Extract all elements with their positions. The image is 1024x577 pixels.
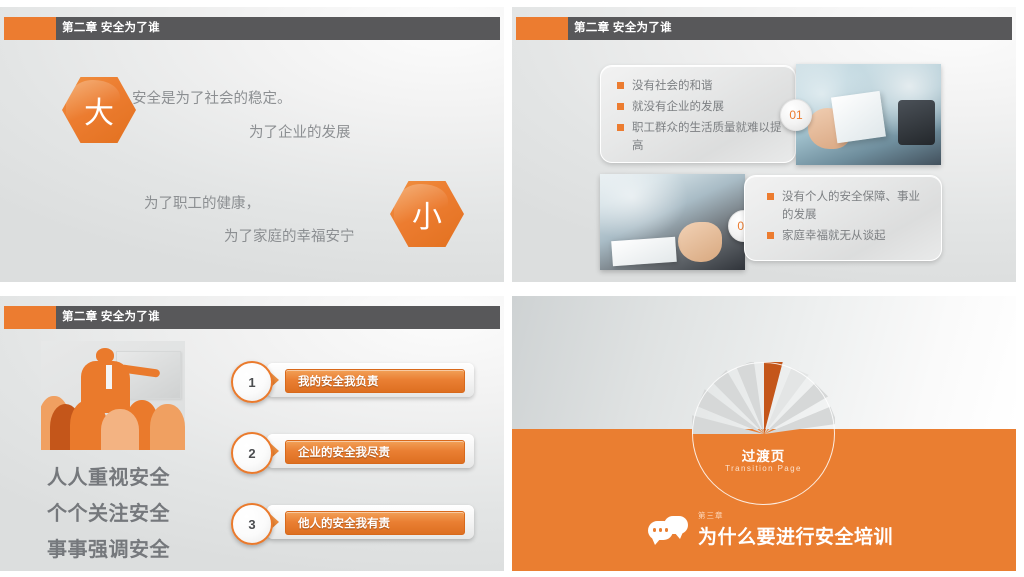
speech-bubble-front	[648, 521, 673, 540]
callout-box-1: 没有社会的和谐 就没有企业的发展 职工群众的生活质量就难以提高	[600, 65, 796, 163]
pie-outer-ring	[692, 362, 835, 505]
slide-4: 过渡页 Transition Page 第三章 为什么要进行安全培训	[512, 296, 1016, 571]
slide-2: 第二章 安全为了谁 没有社会的和谐 就没有企业的发展 职工群众的生活质量就难以提…	[512, 7, 1016, 282]
title-accent-block	[4, 306, 56, 329]
bullet-list-1: 没有社会的和谐 就没有企业的发展 职工群众的生活质量就难以提高	[617, 77, 785, 158]
photo-hand	[808, 108, 852, 148]
slide-1-title-bar: 第二章 安全为了谁	[4, 17, 500, 40]
list-item: 就没有企业的发展	[617, 98, 785, 116]
bullet-square-icon	[617, 103, 624, 110]
list-item: 家庭幸福就无从谈起	[767, 227, 931, 245]
transition-label-cn: 过渡页	[692, 445, 835, 465]
slide-2-title-bar: 第二章 安全为了谁	[516, 17, 1012, 40]
step-inner-bar: 企业的安全我尽责	[285, 440, 465, 464]
bullet-square-icon	[767, 193, 774, 200]
photo-image	[600, 174, 745, 270]
title-accent-block	[4, 17, 56, 40]
bullet-square-icon	[617, 124, 624, 131]
audience-silhouette	[150, 404, 185, 450]
photo-image	[796, 64, 941, 165]
step-label: 我的安全我负责	[298, 373, 379, 389]
speech-bubbles-icon	[648, 516, 688, 544]
bubble-dot	[653, 528, 657, 532]
photo-note-taking	[600, 174, 745, 270]
transition-label-en: Transition Page	[692, 464, 835, 473]
hexagon-big-label: 大	[84, 88, 114, 132]
photo-business-meeting	[796, 64, 941, 165]
title-accent-block	[516, 17, 568, 40]
bubble-dot	[659, 528, 663, 532]
bullet-square-icon	[617, 82, 624, 89]
page-title: 第二章 安全为了谁	[62, 306, 160, 329]
badge-01: 01	[780, 99, 812, 131]
hexagon-small-label: 小	[412, 192, 442, 236]
step-number-circle: 1	[231, 361, 273, 403]
slide-1-line-3: 为了职工的健康，	[144, 192, 260, 213]
slide-1-line-1: 安全是为了社会的稳定。	[132, 87, 292, 108]
page-title: 第二章 安全为了谁	[574, 17, 672, 40]
list-item: 没有社会的和谐	[617, 77, 785, 95]
slide-1-line-4: 为了家庭的幸福安宁	[224, 225, 355, 246]
step-inner-bar: 我的安全我负责	[285, 369, 465, 393]
bullet-text: 就没有企业的发展	[632, 98, 724, 116]
bullet-list-2: 没有个人的安全保障、事业的发展 家庭幸福就无从谈起	[767, 188, 931, 248]
step-inner-bar: 他人的安全我有责	[285, 511, 465, 535]
slide-1: 第二章 安全为了谁 大 小 安全是为了社会的稳定。 为了企业的发展 为了职工的健…	[0, 7, 504, 282]
slogan-line-3: 事事强调安全	[47, 533, 170, 562]
list-item: 职工群众的生活质量就难以提高	[617, 119, 785, 155]
bullet-text: 家庭幸福就无从谈起	[782, 227, 886, 245]
page-title: 第二章 安全为了谁	[62, 17, 160, 40]
chapter-footer: 第三章 为什么要进行安全培训	[648, 510, 893, 549]
photo-hand	[678, 222, 722, 262]
presenter-audience-illustration	[41, 341, 185, 450]
step-label: 他人的安全我有责	[298, 515, 390, 531]
slides-grid: 第二章 安全为了谁 大 小 安全是为了社会的稳定。 为了企业的发展 为了职工的健…	[0, 0, 1024, 577]
chapter-title: 为什么要进行安全培训	[698, 522, 893, 549]
speaker-tie	[106, 365, 112, 389]
step-number-circle: 3	[231, 503, 273, 545]
step-item-3[interactable]: 他人的安全我有责 3	[231, 505, 474, 539]
chapter-number-label: 第三章	[698, 510, 893, 521]
audience-silhouette	[101, 409, 138, 450]
step-number-circle: 2	[231, 432, 273, 474]
step-item-2[interactable]: 企业的安全我尽责 2	[231, 434, 474, 468]
transition-pie-chart: 过渡页 Transition Page	[692, 362, 835, 505]
callout-box-2: 没有个人的安全保障、事业的发展 家庭幸福就无从谈起	[744, 175, 942, 261]
bullet-text: 没有个人的安全保障、事业的发展	[782, 188, 931, 224]
chapter-text-group: 第三章 为什么要进行安全培训	[698, 510, 893, 549]
step-label: 企业的安全我尽责	[298, 444, 390, 460]
list-item: 没有个人的安全保障、事业的发展	[767, 188, 931, 224]
photo-tablet	[898, 100, 936, 144]
slogan-line-2: 个个关注安全	[47, 497, 170, 526]
slide-1-line-2: 为了企业的发展	[249, 121, 351, 142]
bullet-text: 职工群众的生活质量就难以提高	[632, 119, 785, 155]
bubble-dot	[665, 528, 669, 532]
slide-3-title-bar: 第二章 安全为了谁	[4, 306, 500, 329]
slogan-line-1: 人人重视安全	[47, 461, 170, 490]
bullet-square-icon	[767, 232, 774, 239]
step-item-1[interactable]: 我的安全我负责 1	[231, 363, 474, 397]
bullet-text: 没有社会的和谐	[632, 77, 713, 95]
